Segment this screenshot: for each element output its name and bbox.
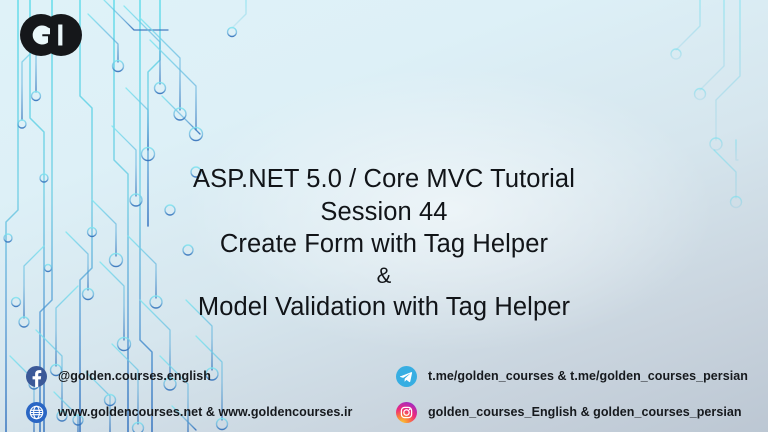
footer-right-column: t.me/golden_courses & t.me/golden_course…	[396, 354, 748, 426]
footer-left-column: @golden.courses.english www.goldencourse…	[26, 354, 352, 426]
title-line-3: Create Form with Tag Helper	[0, 228, 768, 261]
footer-item-facebook[interactable]: @golden.courses.english	[26, 362, 352, 390]
title-line-1: ASP.NET 5.0 / Core MVC Tutorial	[0, 163, 768, 196]
footer-text-instagram: golden_courses_English & golden_courses_…	[428, 405, 742, 419]
footer-text-website: www.goldencourses.net & www.goldencourse…	[58, 405, 352, 419]
footer-text-telegram: t.me/golden_courses & t.me/golden_course…	[428, 369, 748, 383]
globe-icon	[26, 402, 47, 423]
footer-item-website[interactable]: www.goldencourses.net & www.goldencourse…	[26, 398, 352, 426]
telegram-icon	[396, 366, 417, 387]
title-line-2: Session 44	[0, 196, 768, 229]
title-slide: ASP.NET 5.0 / Core MVC Tutorial Session …	[0, 0, 768, 432]
title-block: ASP.NET 5.0 / Core MVC Tutorial Session …	[0, 163, 768, 323]
footer-item-instagram[interactable]: golden_courses_English & golden_courses_…	[396, 398, 748, 426]
title-line-5: Model Validation with Tag Helper	[0, 291, 768, 324]
instagram-icon	[396, 402, 417, 423]
footer: @golden.courses.english www.goldencourse…	[0, 354, 768, 432]
footer-item-telegram[interactable]: t.me/golden_courses & t.me/golden_course…	[396, 362, 748, 390]
facebook-icon	[26, 366, 47, 387]
title-line-ampersand: &	[0, 261, 768, 291]
brand-logo	[20, 14, 82, 56]
footer-text-facebook: @golden.courses.english	[58, 369, 211, 383]
